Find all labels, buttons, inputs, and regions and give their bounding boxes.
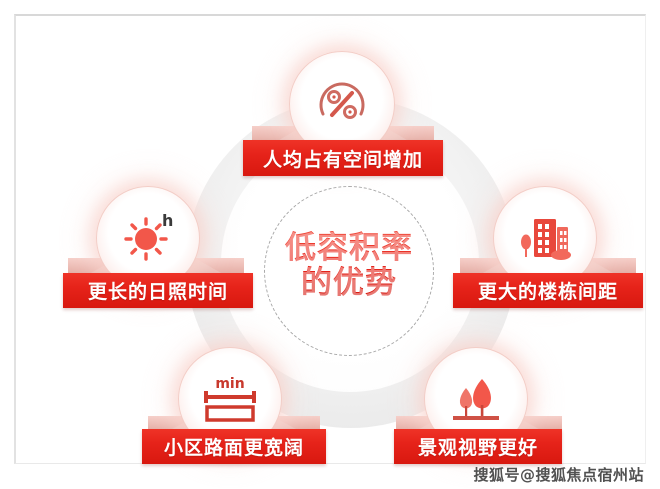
road-width-icon: min	[198, 371, 262, 427]
label-top[interactable]: 人均占有空间增加	[243, 140, 443, 176]
trees-landscape-icon	[445, 371, 507, 427]
label-bottom-left[interactable]: 小区路面更宽阔	[142, 429, 326, 464]
center-title-line1: 低容积率	[285, 230, 413, 266]
poster-frame: 低容积率 的优势 人均占有空间增加	[14, 14, 646, 464]
buildings-spacing-icon	[514, 209, 576, 267]
watermark: 搜狐号@搜狐焦点宿州站	[473, 464, 644, 485]
svg-text:h: h	[162, 211, 173, 230]
label-bottom-right[interactable]: 景观视野更好	[394, 429, 562, 464]
svg-text:min: min	[215, 376, 244, 392]
center-title: 低容积率 的优势	[264, 231, 434, 300]
label-left[interactable]: 更长的日照时间	[63, 273, 253, 308]
percent-gauge-icon	[313, 75, 371, 133]
sun-hours-icon: h	[118, 209, 178, 267]
center-title-line2: 的优势	[264, 266, 434, 301]
label-right[interactable]: 更大的楼栋间距	[453, 273, 643, 308]
